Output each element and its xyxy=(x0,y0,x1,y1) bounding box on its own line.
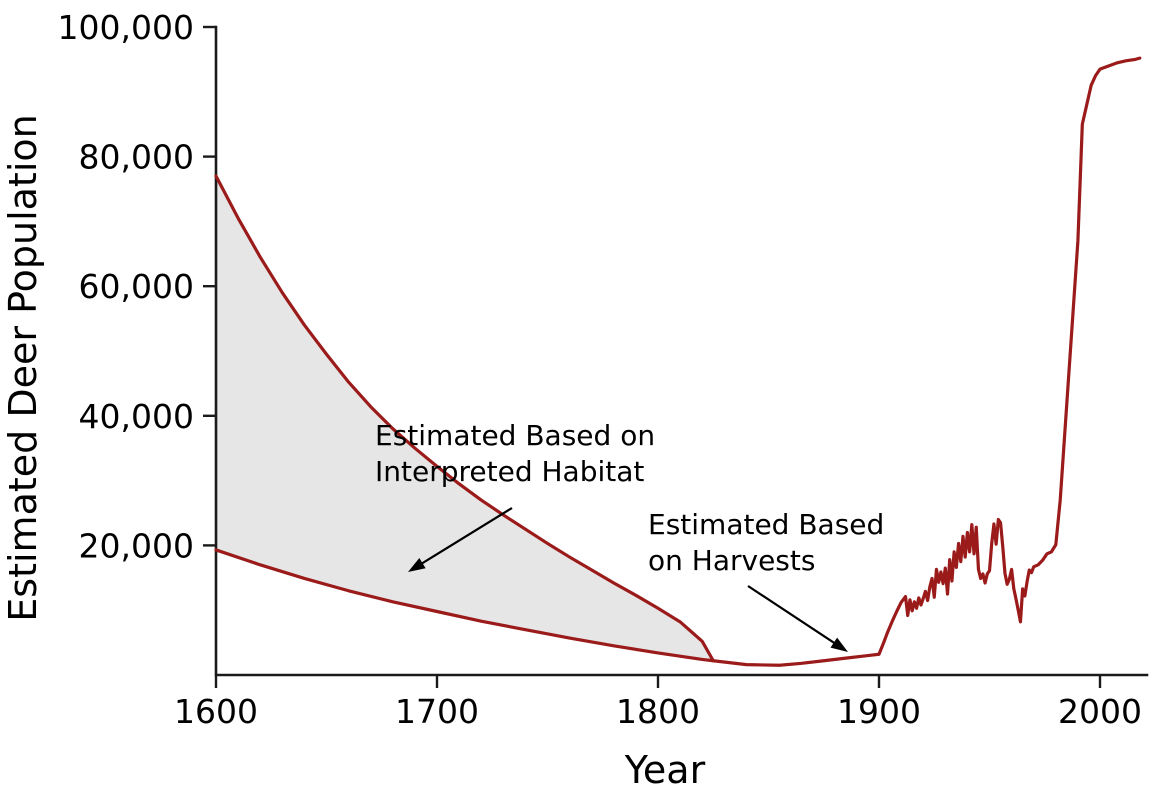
chart-figure: 20,00040,00060,00080,000100,000 16001700… xyxy=(0,0,1152,800)
y-axis-title: Estimated Deer Population xyxy=(1,114,45,621)
y-tick-label-60000: 60,000 xyxy=(79,267,194,306)
x-tick-label-1700: 1700 xyxy=(395,692,479,731)
x-axis-title: Year xyxy=(624,748,706,792)
x-tick-label-2000: 2000 xyxy=(1058,692,1142,731)
harvests-annotation-line-1: Estimated Based xyxy=(648,508,884,541)
x-tick-label-1600: 1600 xyxy=(174,692,258,731)
y-tick-label-40000: 40,000 xyxy=(79,397,194,436)
y-tick-label-80000: 80,000 xyxy=(79,138,194,177)
harvests-annotation-arrow-head xyxy=(831,638,848,652)
y-axis-tick-labels: 20,00040,00060,00080,000100,000 xyxy=(58,8,194,565)
harvests-annotation-arrow-shaft xyxy=(748,586,840,647)
habitat-annotation-line-2: Interpreted Habitat xyxy=(375,455,644,488)
y-tick-label-20000: 20,000 xyxy=(79,526,194,565)
x-axis-ticks xyxy=(216,675,1100,688)
deer-population-line-chart: 20,00040,00060,00080,000100,000 16001700… xyxy=(0,0,1152,800)
x-tick-label-1800: 1800 xyxy=(616,692,700,731)
y-axis-ticks xyxy=(203,27,216,545)
harvests-annotation-line-2: on Harvests xyxy=(648,544,815,577)
x-axis-tick-labels: 16001700180019002000 xyxy=(174,692,1142,731)
habitat-annotation-line-1: Estimated Based on xyxy=(375,419,655,452)
y-tick-label-100000: 100,000 xyxy=(58,8,194,47)
x-tick-label-1900: 1900 xyxy=(837,692,921,731)
